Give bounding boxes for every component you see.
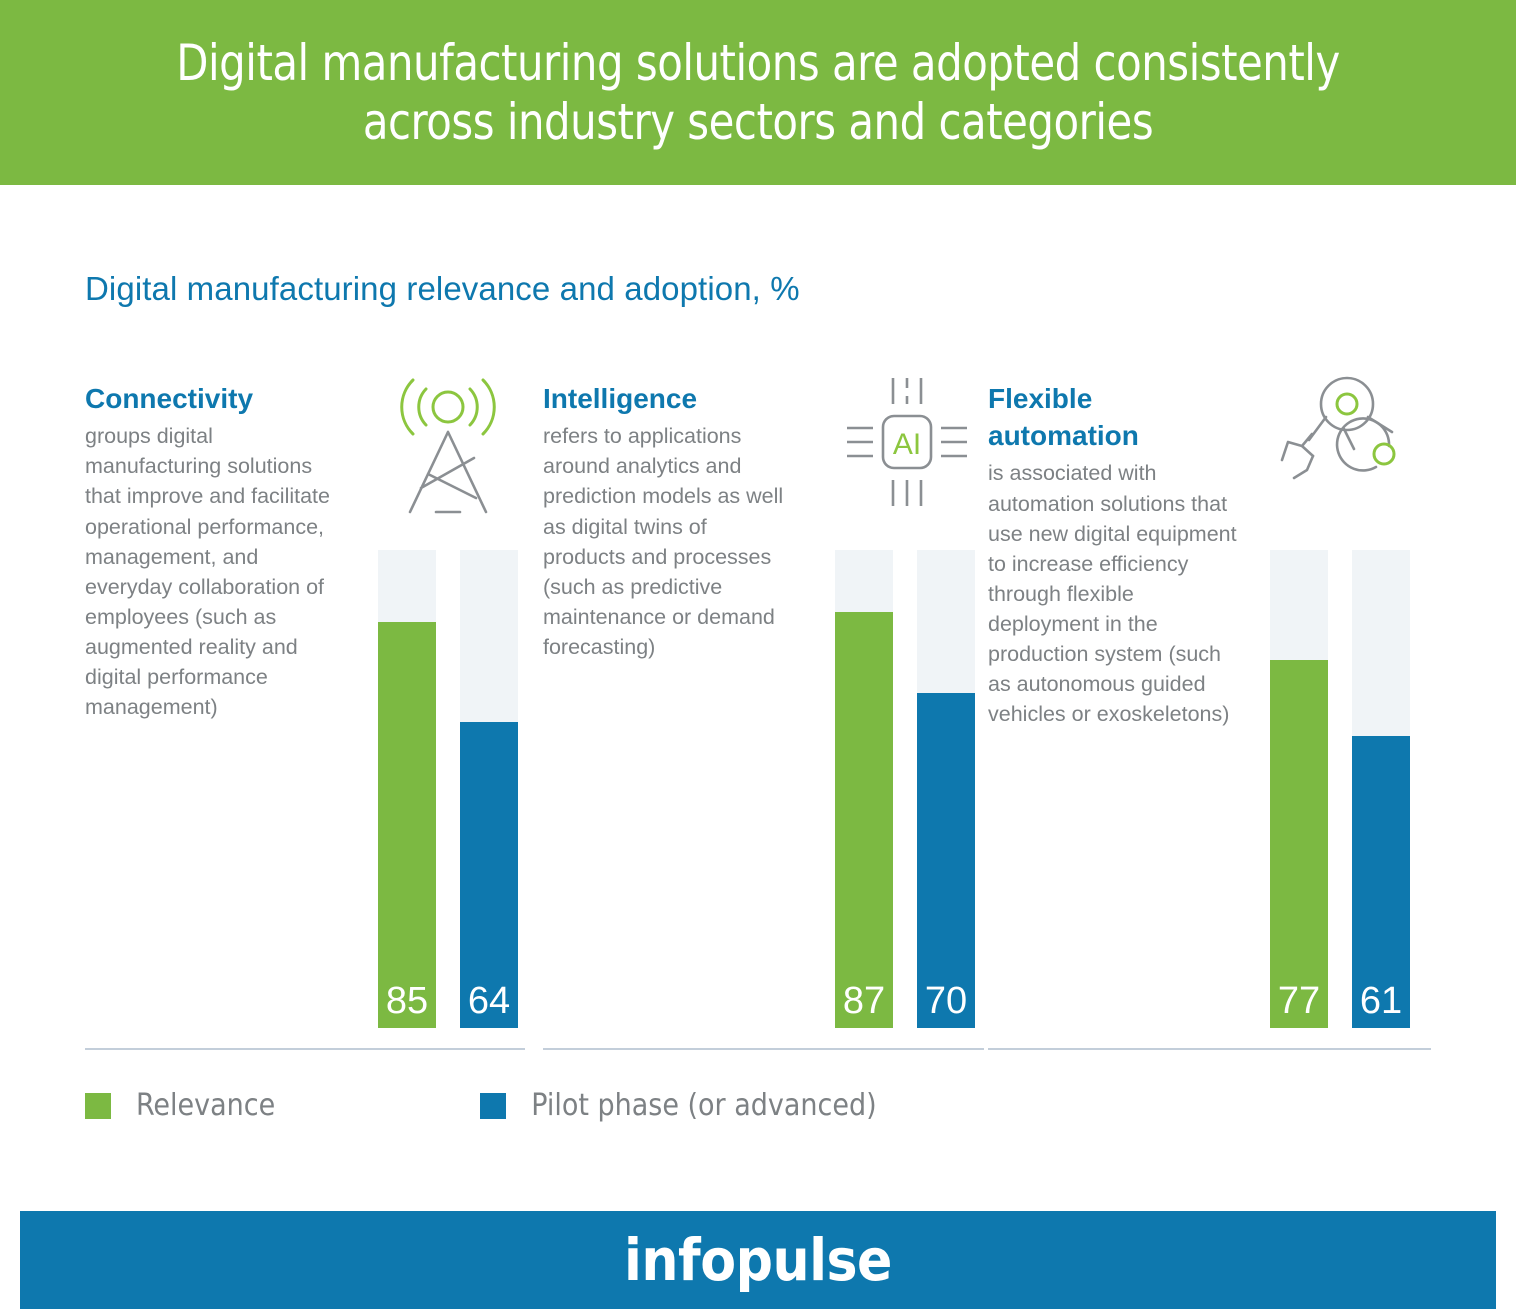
chart-area: Connectivity groups digital manufacturin… <box>85 380 1431 1050</box>
category-title: Intelligence <box>543 380 808 417</box>
bar-fill-relevance: 85 <box>378 622 436 1028</box>
legend-item-pilot: Pilot phase (or advanced) <box>480 1088 876 1123</box>
bar-pilot: 61 <box>1352 550 1410 1028</box>
bar-relevance: 85 <box>378 550 436 1028</box>
radio-tower-icon <box>388 372 508 522</box>
bar-group-connectivity: 85 64 <box>378 550 543 1028</box>
legend-swatch-icon <box>480 1093 506 1119</box>
category-description: refers to applications around analytics … <box>543 421 793 662</box>
column-divider <box>543 1048 984 1050</box>
robot-arm-icon <box>1276 372 1424 497</box>
bar-pilot: 70 <box>917 550 975 1028</box>
svg-text:AI: AI <box>893 428 921 461</box>
category-column-intelligence: Intelligence refers to applications arou… <box>543 380 983 1050</box>
bar-group-intelligence: 87 70 <box>835 550 1000 1028</box>
legend-label: Relevance <box>136 1088 275 1123</box>
bar-pilot: 64 <box>460 550 518 1028</box>
bar-value-label: 70 <box>917 982 975 1020</box>
infographic-page: Digital manufacturing solutions are adop… <box>0 0 1516 1313</box>
bar-fill-pilot: 61 <box>1352 736 1410 1028</box>
bar-value-label: 61 <box>1352 982 1410 1020</box>
column-divider <box>85 1048 525 1050</box>
header-band: Digital manufacturing solutions are adop… <box>0 0 1516 185</box>
infopulse-logo: infopulse <box>624 1226 892 1294</box>
category-title: Connectivity <box>85 380 350 417</box>
bar-value-label: 64 <box>460 982 518 1020</box>
column-divider <box>988 1048 1431 1050</box>
bar-fill-relevance: 77 <box>1270 660 1328 1028</box>
bar-fill-pilot: 70 <box>917 693 975 1028</box>
bar-value-label: 85 <box>378 982 436 1020</box>
category-description: is associated with automation solutions … <box>988 458 1240 729</box>
bar-fill-pilot: 64 <box>460 722 518 1028</box>
category-column-flexible-automation: Flexible automation is associated with a… <box>988 380 1431 1050</box>
category-title: Flexible automation <box>988 380 1238 454</box>
chart-subtitle: Digital manufacturing relevance and adop… <box>85 270 800 308</box>
footer-band: infopulse <box>20 1211 1496 1309</box>
bar-relevance: 77 <box>1270 550 1328 1028</box>
category-description: groups digital manufacturing solutions t… <box>85 421 347 722</box>
bar-group-flexible-automation: 77 61 <box>1270 550 1435 1028</box>
legend-swatch-icon <box>85 1093 111 1119</box>
legend-item-relevance: Relevance <box>85 1088 275 1123</box>
legend-label: Pilot phase (or advanced) <box>531 1088 876 1123</box>
bar-fill-relevance: 87 <box>835 612 893 1028</box>
bar-value-label: 77 <box>1270 982 1328 1020</box>
page-title: Digital manufacturing solutions are adop… <box>88 34 1427 151</box>
category-column-connectivity: Connectivity groups digital manufacturin… <box>85 380 525 1050</box>
chart-legend: Relevance Pilot phase (or advanced) <box>85 1088 877 1123</box>
ai-chip-icon: AI <box>843 372 971 517</box>
bar-relevance: 87 <box>835 550 893 1028</box>
bar-value-label: 87 <box>835 982 893 1020</box>
